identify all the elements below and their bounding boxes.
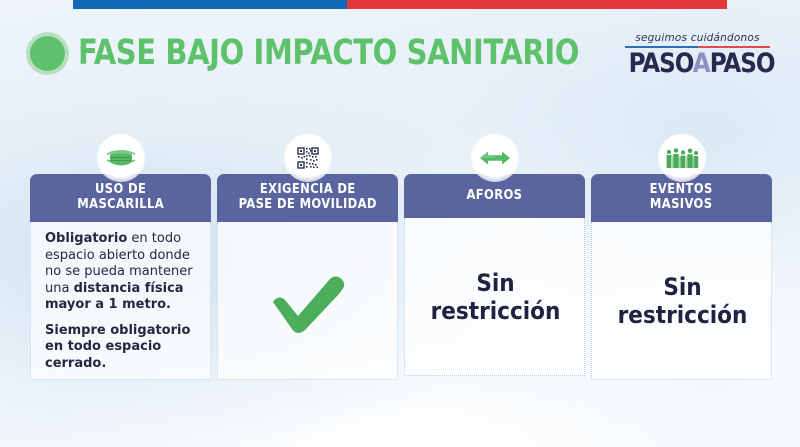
card-exigencia-de-pase-de-movilidad: EXIGENCIA DE PASE DE MOVILIDAD [217, 134, 398, 380]
paso-a-paso-logo: seguimos cuidándonos PASOAPASO [625, 32, 770, 77]
logo-word-part2: PASO [710, 48, 775, 79]
green-circle-icon [30, 36, 65, 71]
flag-bar-blue-segment [73, 0, 347, 9]
card-body-exigencia-de-pase-de-movilidad [217, 222, 398, 380]
card-aforos: AFOROS Sin restricción [404, 134, 585, 380]
card-body-aforos: Sin restricción [404, 218, 585, 376]
logo-tagline: seguimos cuidándonos [625, 32, 770, 44]
card-body-paragraph-1: Obligatorio en todo espacio abierto dond… [45, 231, 198, 314]
card-body-eventos-masivos: Sin restricción [591, 222, 772, 380]
flag-bar-red-segment [347, 0, 727, 9]
logo-word-part1: PASO [629, 48, 693, 79]
card-body-value: Sin restricción [431, 270, 561, 326]
card-body-paragraph-2: Siempre obligatorio en todo espacio cerr… [45, 323, 198, 373]
logo-wordmark: PASOAPASO [629, 50, 767, 77]
crowd-people-icon [658, 134, 706, 182]
phase-heading: FASE BAJO IMPACTO SANITARIO [30, 36, 623, 71]
check-mark-icon [267, 271, 351, 333]
face-mask-icon [97, 134, 145, 182]
logo-word-middle-a: A [693, 48, 710, 79]
card-body-value: Sin restricción [618, 274, 748, 330]
card-header-label: AFOROS [467, 188, 523, 203]
card-header-label: EXIGENCIA DE PASE DE MOVILIDAD [238, 182, 376, 213]
double-arrow-icon [471, 134, 519, 182]
card-header-label: USO DE MASCARILLA [77, 182, 164, 213]
card-eventos-masivos: EVENTOS MASIVOS Sin restricción [591, 134, 772, 380]
chile-flag-bar [73, 0, 727, 9]
infographic-page: FASE BAJO IMPACTO SANITARIO seguimos cui… [0, 0, 800, 447]
qr-code-icon [284, 134, 332, 182]
card-uso-de-mascarilla: USO DE MASCARILLA Obligatorio en todo es… [30, 134, 211, 380]
card-header-label: EVENTOS MASIVOS [650, 182, 713, 213]
measures-card-row: USO DE MASCARILLA Obligatorio en todo es… [30, 134, 772, 380]
page-title: FASE BAJO IMPACTO SANITARIO [78, 36, 579, 71]
card-body-uso-de-mascarilla: Obligatorio en todo espacio abierto dond… [30, 222, 211, 380]
